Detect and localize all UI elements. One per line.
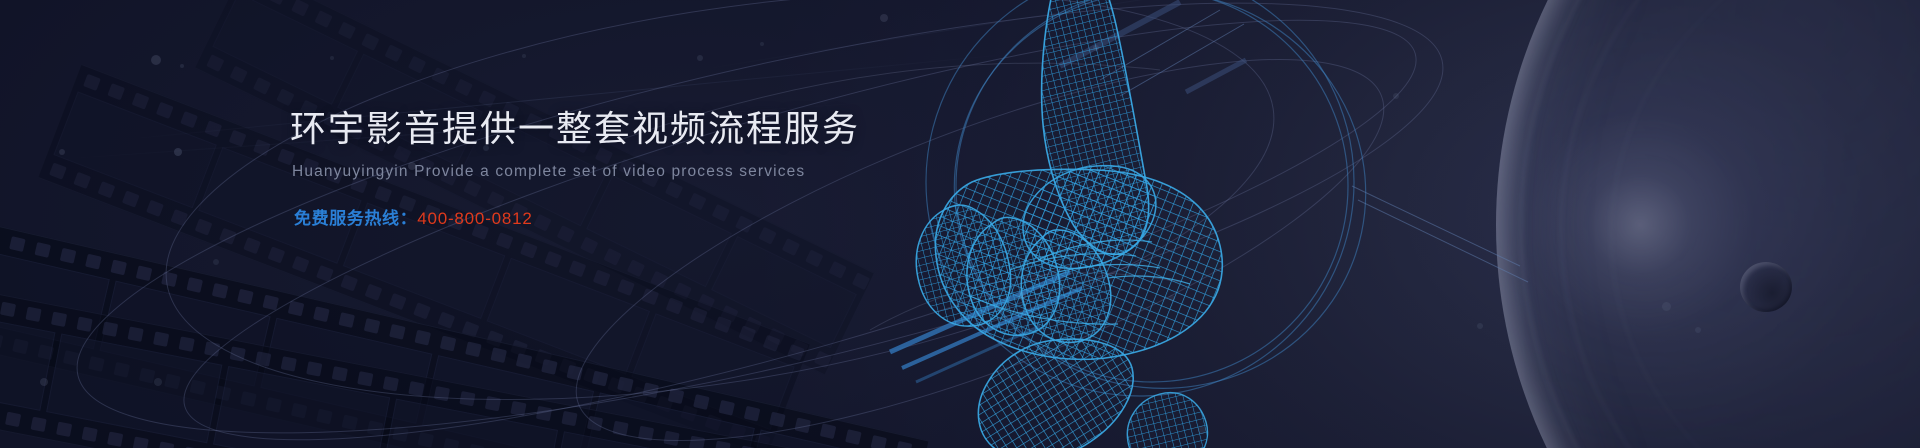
star-dot: [330, 56, 334, 60]
star-dot: [213, 259, 219, 265]
page-title: 环宇影音提供一整套视频流程服务: [290, 106, 1050, 153]
star-dot: [154, 378, 162, 386]
star-dot: [522, 54, 526, 58]
star-dot: [59, 149, 65, 155]
star-dot: [1198, 426, 1206, 434]
star-dot: [174, 148, 182, 156]
star-dot: [760, 42, 764, 46]
star-dot: [40, 378, 48, 386]
star-dot: [1018, 292, 1026, 300]
planet-crater-small: [1662, 302, 1671, 311]
star-dot: [880, 14, 888, 22]
star-dot: [1093, 45, 1099, 51]
planet-crater: [1740, 262, 1792, 312]
star-dot: [697, 55, 703, 61]
star-dot: [1695, 327, 1701, 333]
star-dot: [180, 64, 184, 68]
star-dot: [151, 55, 161, 65]
star-dot: [1477, 323, 1483, 329]
hotline-number[interactable]: 400-800-0812: [417, 209, 532, 228]
page-subtitle: Huanyuyingyin Provide a complete set of …: [292, 163, 1050, 182]
hotline-label: 免费服务热线：: [294, 209, 417, 228]
star-dot: [1393, 93, 1399, 99]
hotline: 免费服务热线：400-800-0812: [294, 209, 1050, 229]
hero-banner: 环宇影音提供一整套视频流程服务 Huanyuyingyin Provide a …: [0, 0, 1920, 448]
banner-copy: 环宇影音提供一整套视频流程服务 Huanyuyingyin Provide a …: [290, 106, 1050, 230]
star-dot: [1169, 295, 1175, 301]
